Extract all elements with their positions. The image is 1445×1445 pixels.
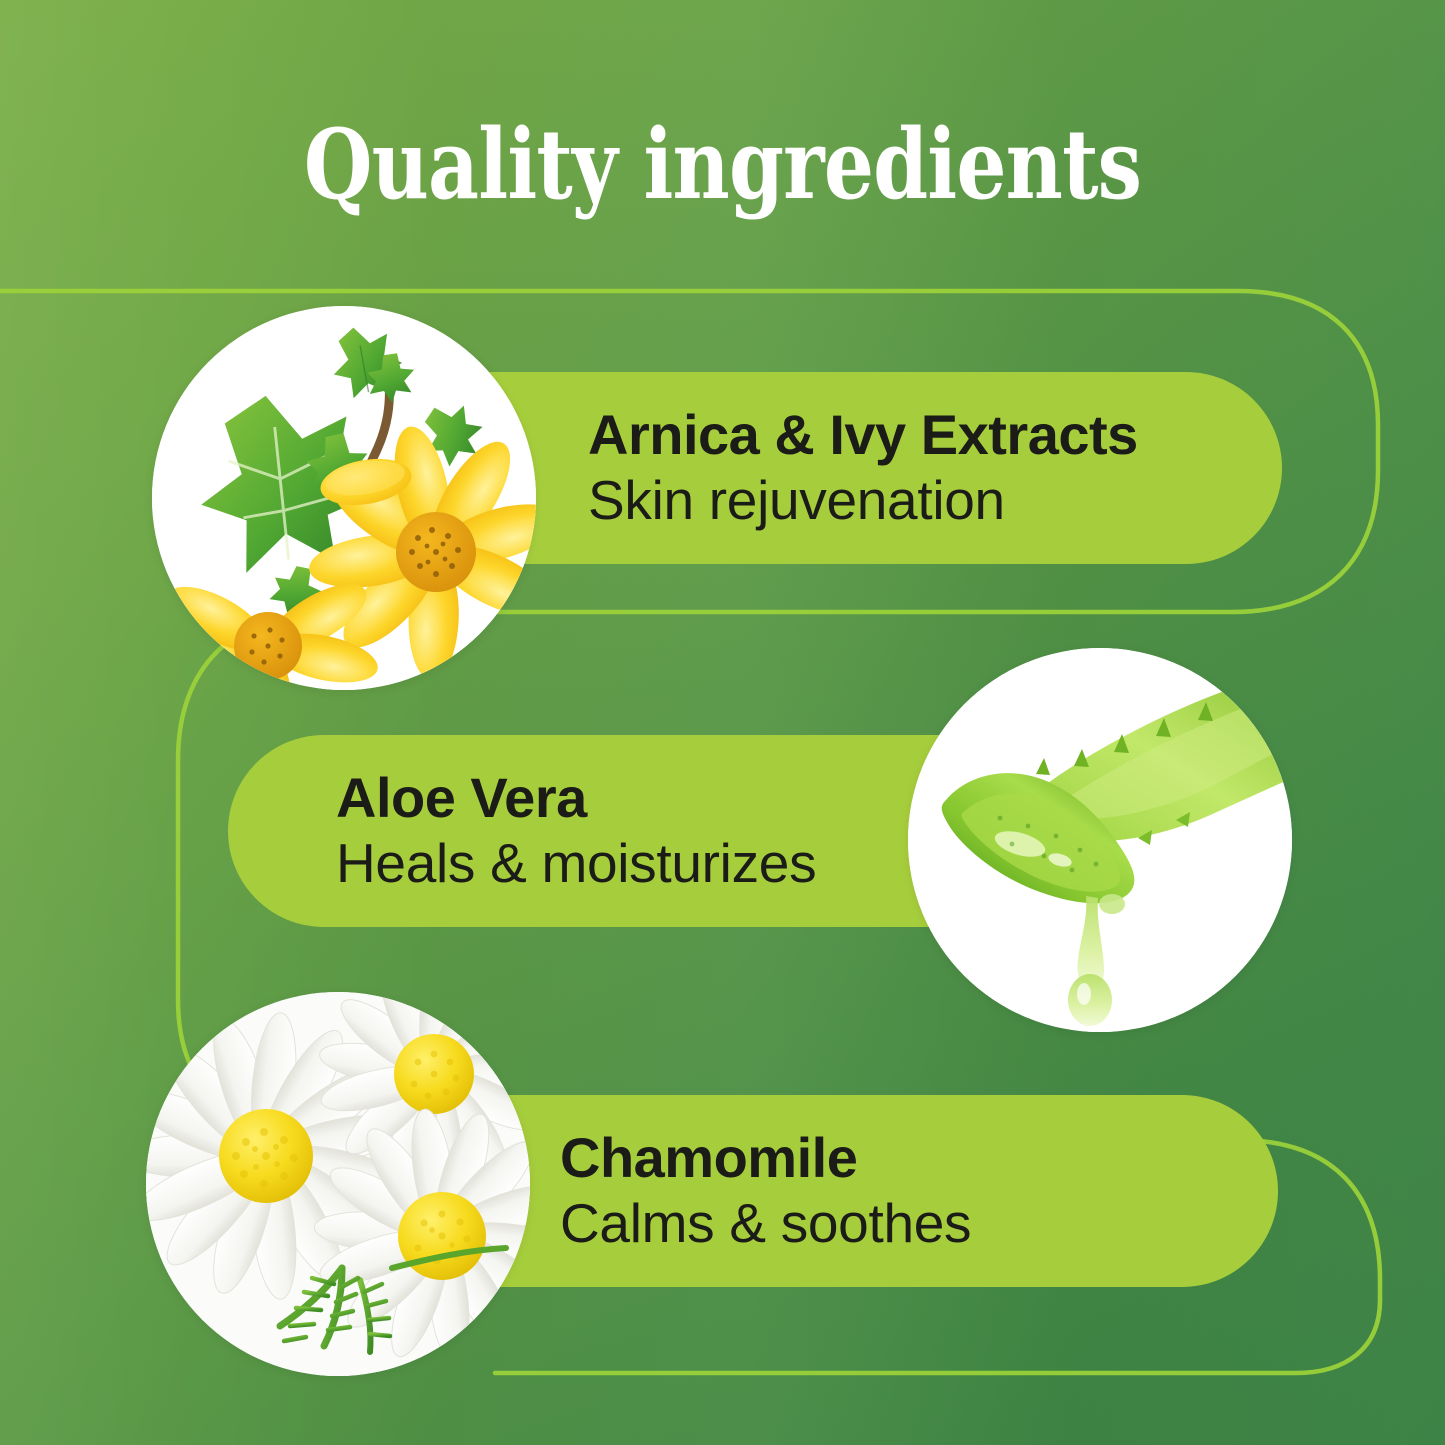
chamomile-photo: White chamomile flowers with yellow cent… xyxy=(146,992,530,1376)
aloe-vera-photo-alt: Sliced aloe vera leaf with gel dripping xyxy=(908,648,909,649)
ingredient-benefit: Skin rejuvenation xyxy=(588,471,1282,529)
page-title: Quality ingredients xyxy=(130,108,1315,221)
ingredient-benefit: Calms & soothes xyxy=(560,1194,1278,1252)
ingredient-heading: Chamomile xyxy=(560,1129,1278,1186)
arnica-ivy-photo-alt: Yellow arnica flowers with green ivy lea… xyxy=(152,306,153,307)
ingredient-heading: Arnica & Ivy Extracts xyxy=(588,406,1282,463)
arnica-ivy-photo: Yellow arnica flowers with green ivy lea… xyxy=(152,306,536,690)
chamomile-photo-alt: White chamomile flowers with yellow cent… xyxy=(146,992,147,993)
aloe-vera-photo: Sliced aloe vera leaf with gel dripping xyxy=(908,648,1292,1032)
quality-ingredients-poster: Quality ingredients Arnica & Ivy Extract… xyxy=(0,0,1445,1445)
